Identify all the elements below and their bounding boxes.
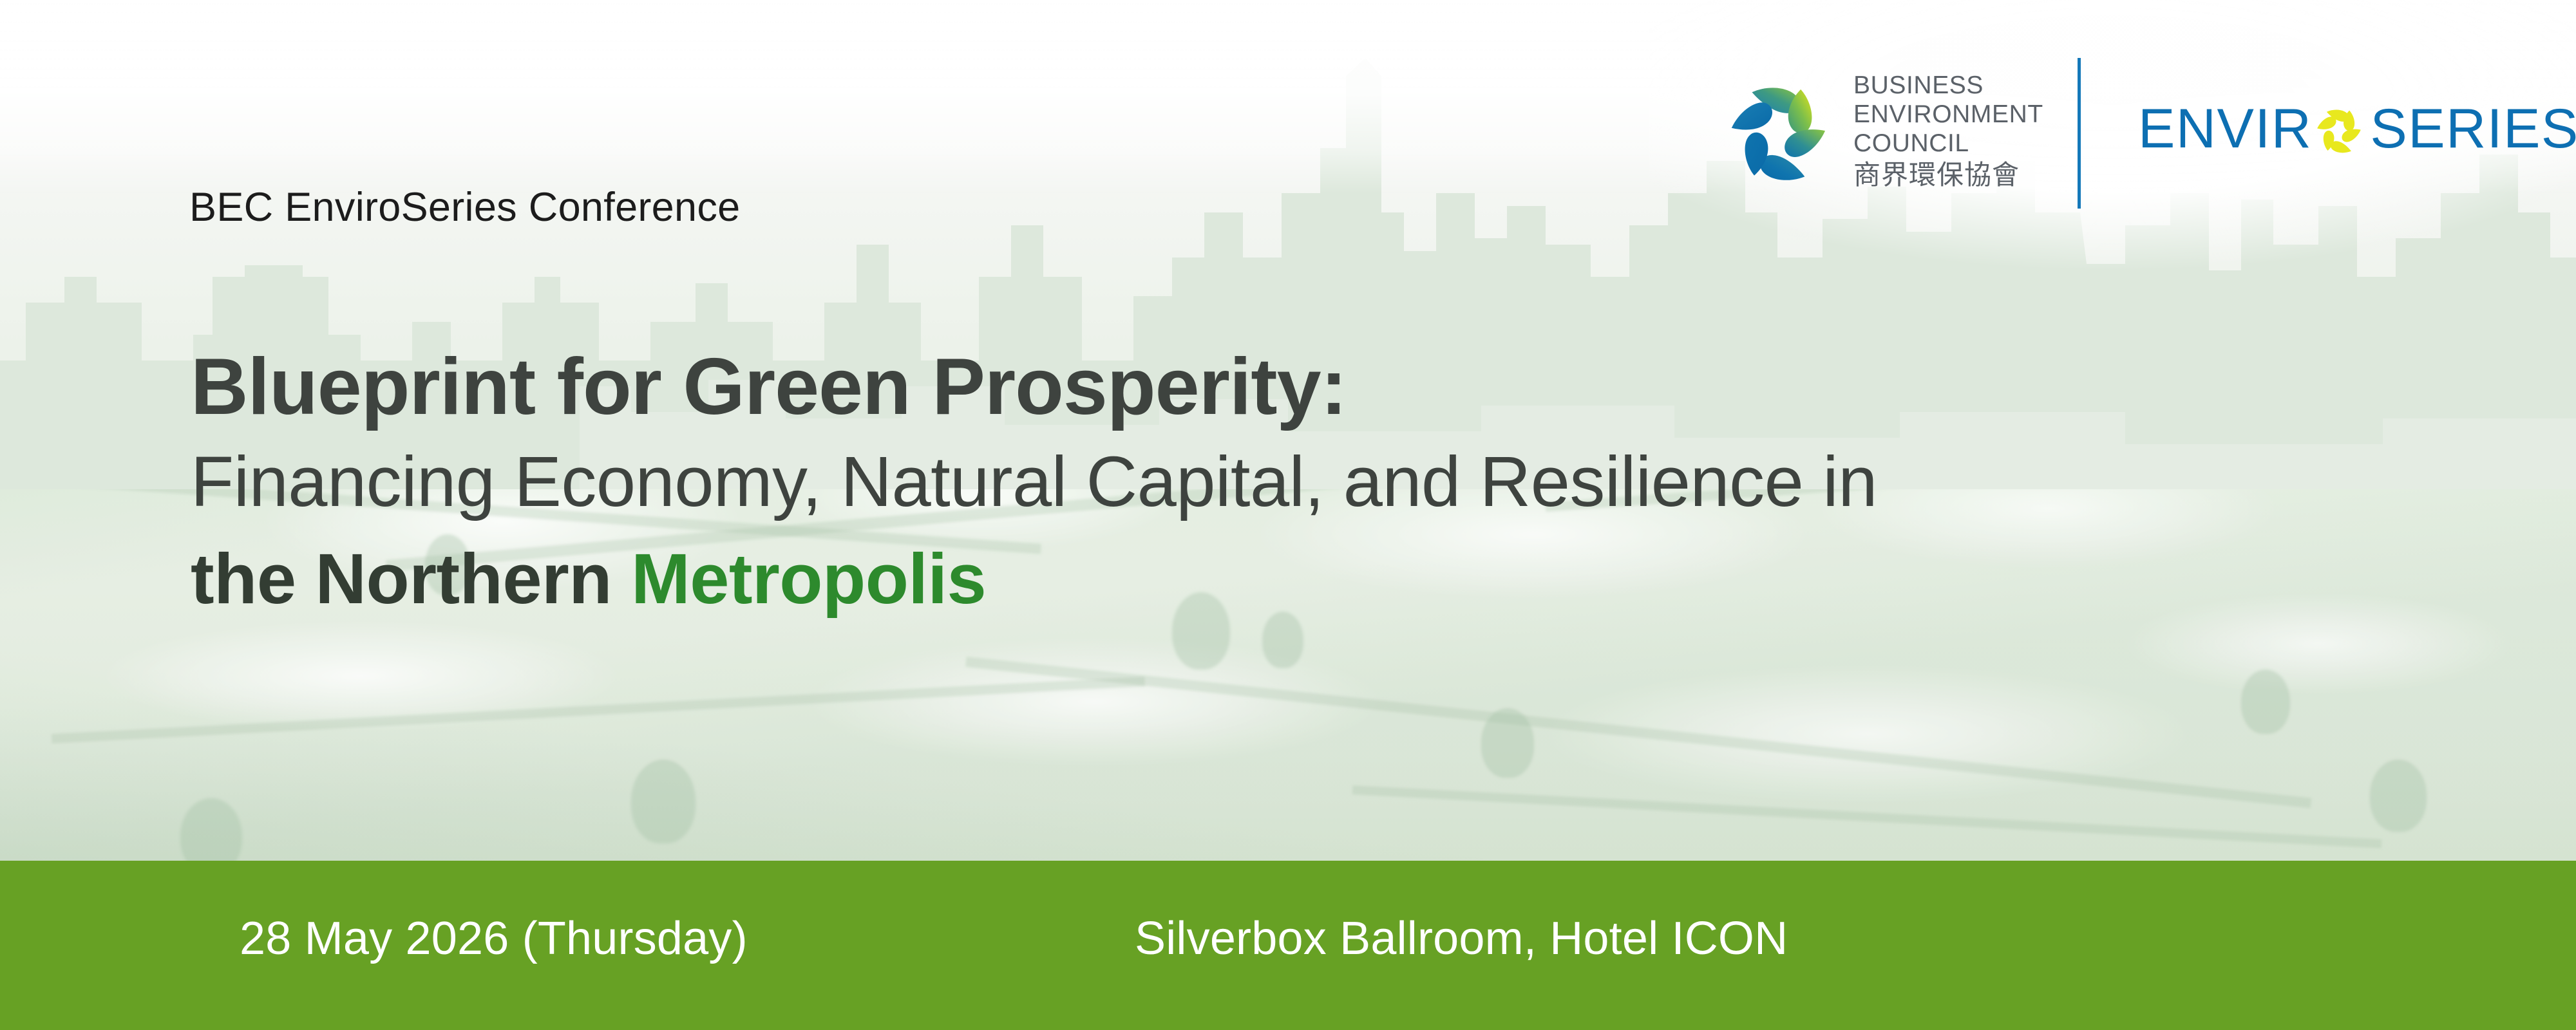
event-date: 28 May 2026 (Thursday) — [240, 912, 748, 965]
headline-line-3-green: Metropolis — [631, 539, 986, 619]
bec-word-line-2: ENVIRONMENT — [1853, 100, 2043, 129]
headline-line-2: Financing Economy, Natural Capital, and … — [191, 435, 2380, 529]
bec-word-line-1: BUSINESS — [1853, 71, 2043, 100]
conference-series-kicker: BEC EnviroSeries Conference — [189, 184, 741, 230]
enviroseries-logo: ENVIR SERIES — [2138, 90, 2576, 167]
headline-block: Blueprint for Green Prosperity: Financin… — [191, 340, 2380, 625]
headline-line-3-dark: the Northern — [191, 539, 631, 619]
enviroseries-suffix: SERIES — [2370, 101, 2576, 156]
headline-line-3: the Northern Metropolis — [191, 533, 2380, 625]
conference-banner: BEC EnviroSeries Conference Blueprint fo… — [0, 0, 2576, 1030]
bec-pinwheel-logo-icon — [1726, 75, 1839, 188]
event-venue: Silverbox Ballroom, Hotel ICON — [1135, 912, 1788, 965]
enviroseries-pinwheel-icon — [2315, 104, 2367, 156]
event-details-inner: 28 May 2026 (Thursday) Silverbox Ballroo… — [0, 861, 2576, 1030]
bec-word-line-3: COUNCIL — [1853, 129, 2043, 158]
event-details-bar: 28 May 2026 (Thursday) Silverbox Ballroo… — [0, 861, 2576, 1030]
headline-line-1: Blueprint for Green Prosperity: — [191, 340, 2380, 434]
enviroseries-prefix: ENVIR — [2138, 101, 2312, 156]
logo-lockup: BUSINESS ENVIRONMENT COUNCIL 商界環保協會 ENVI… — [1726, 50, 2518, 211]
bec-wordmark: BUSINESS ENVIRONMENT COUNCIL 商界環保協會 — [1853, 71, 2043, 191]
bec-word-line-4-chinese: 商界環保協會 — [1853, 160, 2043, 191]
bec-logo: BUSINESS ENVIRONMENT COUNCIL 商界環保協會 — [1726, 55, 2022, 207]
logo-divider — [2078, 58, 2081, 209]
